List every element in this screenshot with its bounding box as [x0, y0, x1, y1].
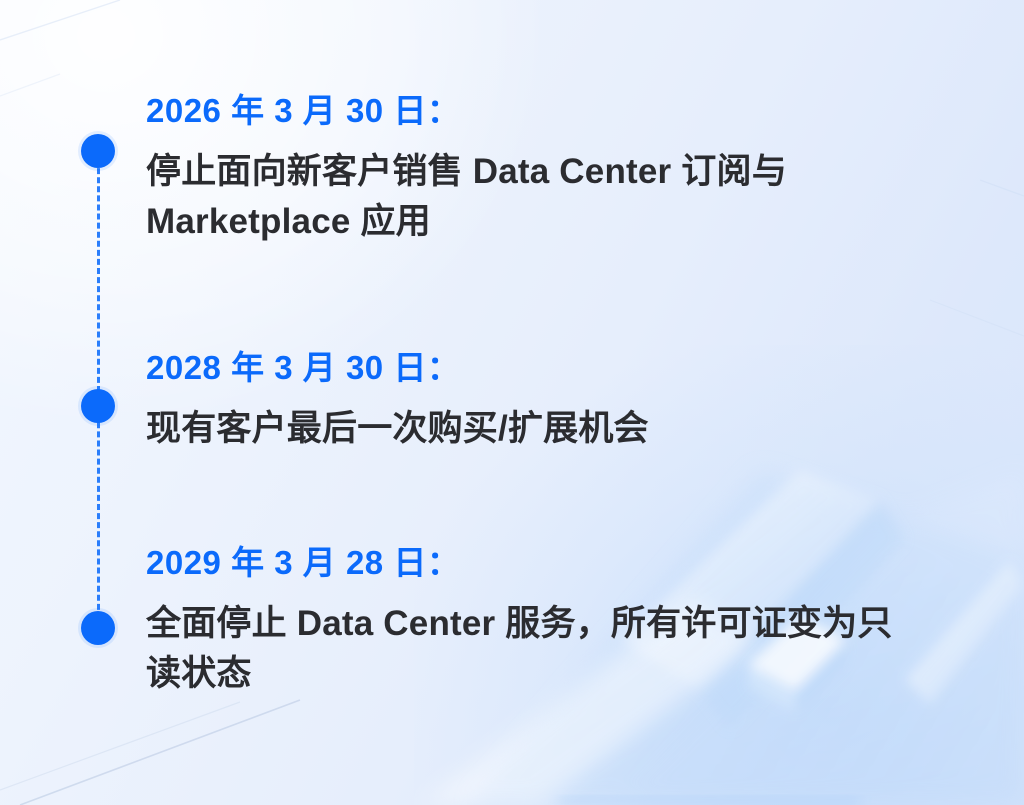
timeline-entry-description-3: 全面停止 Data Center 服务，所有许可证变为只读状态 — [146, 599, 906, 698]
timeline-entry-description-1: 停止面向新客户销售 Data Center 订阅与 Marketplace 应用 — [146, 147, 906, 246]
timeline-entry-2: 2028 年 3 月 30 日： 现有客户最后一次购买/扩展机会 — [146, 349, 936, 454]
timeline: 2026 年 3 月 30 日： 停止面向新客户销售 Data Center 订… — [0, 0, 1024, 805]
timeline-dot-marker-2 — [81, 389, 115, 423]
timeline-entry-date-1: 2026 年 3 月 30 日： — [146, 92, 936, 131]
timeline-entry-3: 2029 年 3 月 28 日： 全面停止 Data Center 服务，所有许… — [146, 544, 936, 698]
timeline-canvas: 2026 年 3 月 30 日： 停止面向新客户销售 Data Center 订… — [0, 0, 1024, 805]
timeline-entry-date-3: 2029 年 3 月 28 日： — [146, 544, 936, 583]
timeline-entry-description-2: 现有客户最后一次购买/扩展机会 — [146, 404, 936, 454]
timeline-entry-date-2: 2028 年 3 月 30 日： — [146, 349, 936, 388]
timeline-dot-marker-3 — [81, 611, 115, 645]
timeline-entry-1: 2026 年 3 月 30 日： 停止面向新客户销售 Data Center 订… — [146, 92, 936, 246]
timeline-dot-marker-1 — [81, 134, 115, 168]
